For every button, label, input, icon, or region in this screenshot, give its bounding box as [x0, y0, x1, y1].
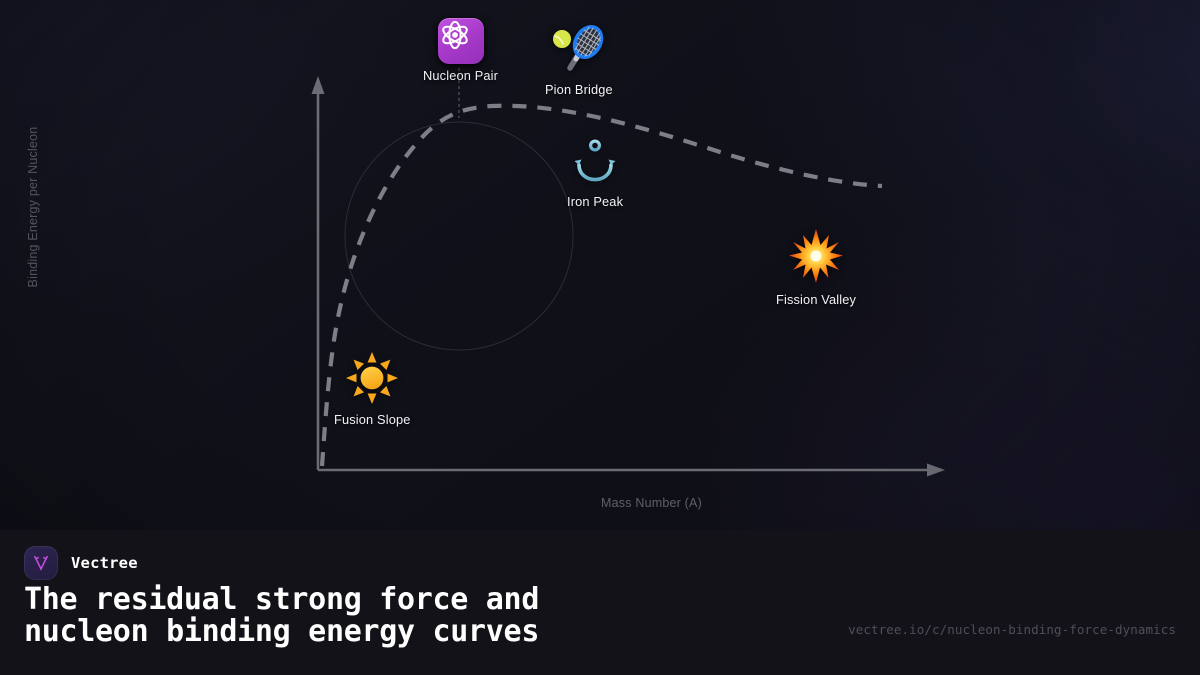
node-nucleon-pair[interactable]: Nucleon Pair [423, 18, 498, 83]
node-label: Fusion Slope [334, 412, 411, 427]
headline: The residual strong force and nucleon bi… [24, 584, 784, 649]
node-fission-valley[interactable]: Fission Valley [776, 228, 856, 307]
explosion-icon [788, 228, 844, 288]
brand-name: Vectree [71, 554, 138, 572]
node-label: Iron Peak [567, 194, 623, 209]
x-axis-label: Mass Number (A) [601, 496, 702, 510]
source-url: vectree.io/c/nucleon-binding-force-dynam… [848, 622, 1176, 637]
atom-icon [438, 18, 484, 64]
anchor-icon [572, 138, 618, 190]
tennis-icon [551, 22, 607, 78]
diagram-canvas: Binding Energy per Nucleon Mass Number (… [0, 0, 1200, 530]
decorative-circle [345, 122, 573, 350]
y-axis-arrowhead [312, 76, 325, 94]
node-label: Nucleon Pair [423, 68, 498, 83]
y-axis-label: Binding Energy per Nucleon [26, 82, 40, 332]
footer-bar: Vectree The residual strong force and nu… [0, 530, 1200, 675]
node-label: Fission Valley [776, 292, 856, 307]
node-iron-peak[interactable]: Iron Peak [567, 138, 623, 209]
node-fusion-slope[interactable]: Fusion Slope [334, 352, 411, 427]
brand: Vectree [24, 546, 138, 580]
vectree-logo-icon [24, 546, 58, 580]
node-label: Pion Bridge [545, 82, 613, 97]
node-pion-bridge[interactable]: Pion Bridge [545, 22, 613, 97]
sun-icon [346, 352, 398, 408]
x-axis-arrowhead [927, 464, 945, 477]
